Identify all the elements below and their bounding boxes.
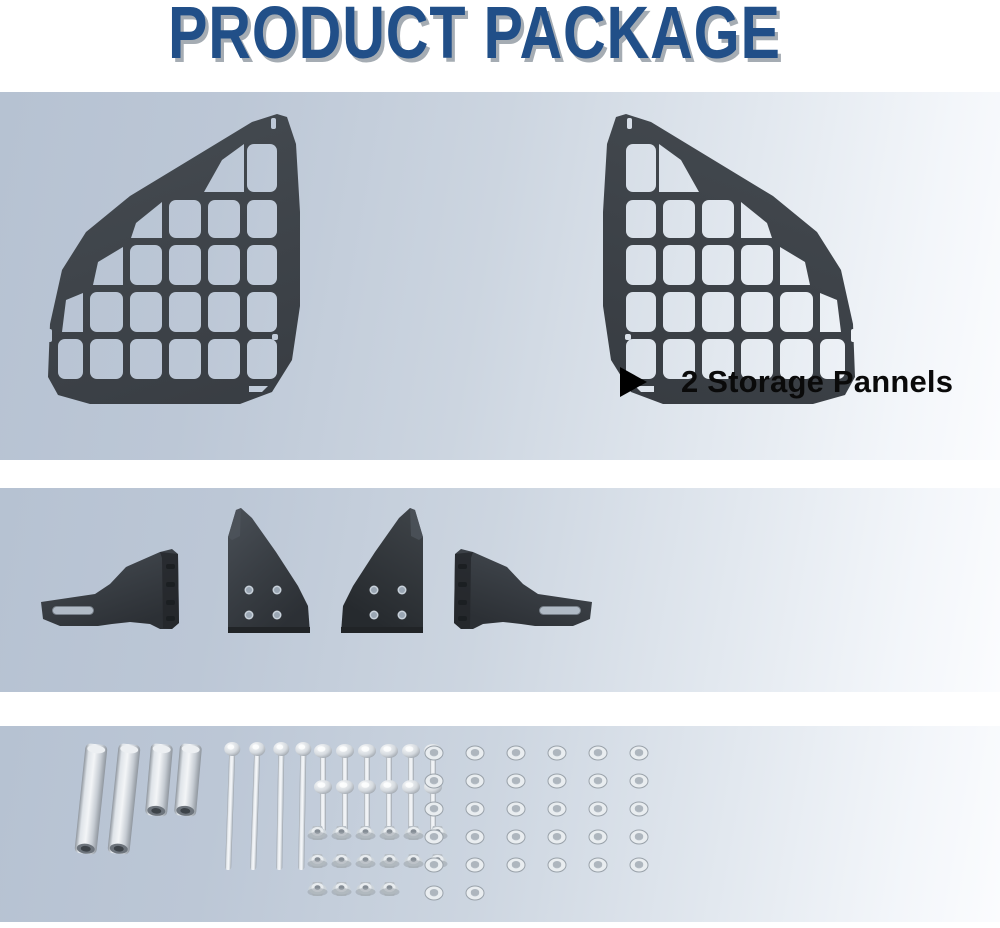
callout-storage-panels: 2 Storage Pannels xyxy=(620,364,953,400)
section-mounting-brackets: Mouting Brackets xyxy=(0,488,1000,692)
spacer-tube-short-1 xyxy=(145,743,173,817)
section-hardware: Hardware xyxy=(0,726,1000,922)
hardware-illustration xyxy=(0,726,1000,922)
washer-group xyxy=(425,746,648,900)
bolt-long-4 xyxy=(293,742,311,870)
storage-panels-illustration xyxy=(0,92,1000,460)
spacer-tube-long-1 xyxy=(74,743,107,855)
section-storage-panels: 2 Storage Pannels xyxy=(0,92,1000,460)
spacer-tube-long-2 xyxy=(107,743,140,855)
bolt-long-3 xyxy=(271,742,289,870)
page-title: PRODUCT PACKAGE xyxy=(168,0,781,68)
bracket-gusset-right xyxy=(341,508,423,633)
bracket-slotted-left xyxy=(41,549,179,629)
triangle-right-icon xyxy=(620,367,647,397)
bolt-short-group xyxy=(314,744,442,832)
mounting-brackets-illustration xyxy=(0,488,1000,692)
storage-panel-right xyxy=(0,92,1000,460)
spacer-tube-short-2 xyxy=(174,743,202,817)
bolt-long-2 xyxy=(245,742,265,870)
bracket-gusset-left xyxy=(228,508,310,633)
bolt-long-1 xyxy=(220,742,240,870)
callout-label-storage-panels: 2 Storage Pannels xyxy=(681,364,953,400)
title-bar: PRODUCT PACKAGE xyxy=(0,0,1000,88)
bracket-slotted-right xyxy=(454,549,592,629)
